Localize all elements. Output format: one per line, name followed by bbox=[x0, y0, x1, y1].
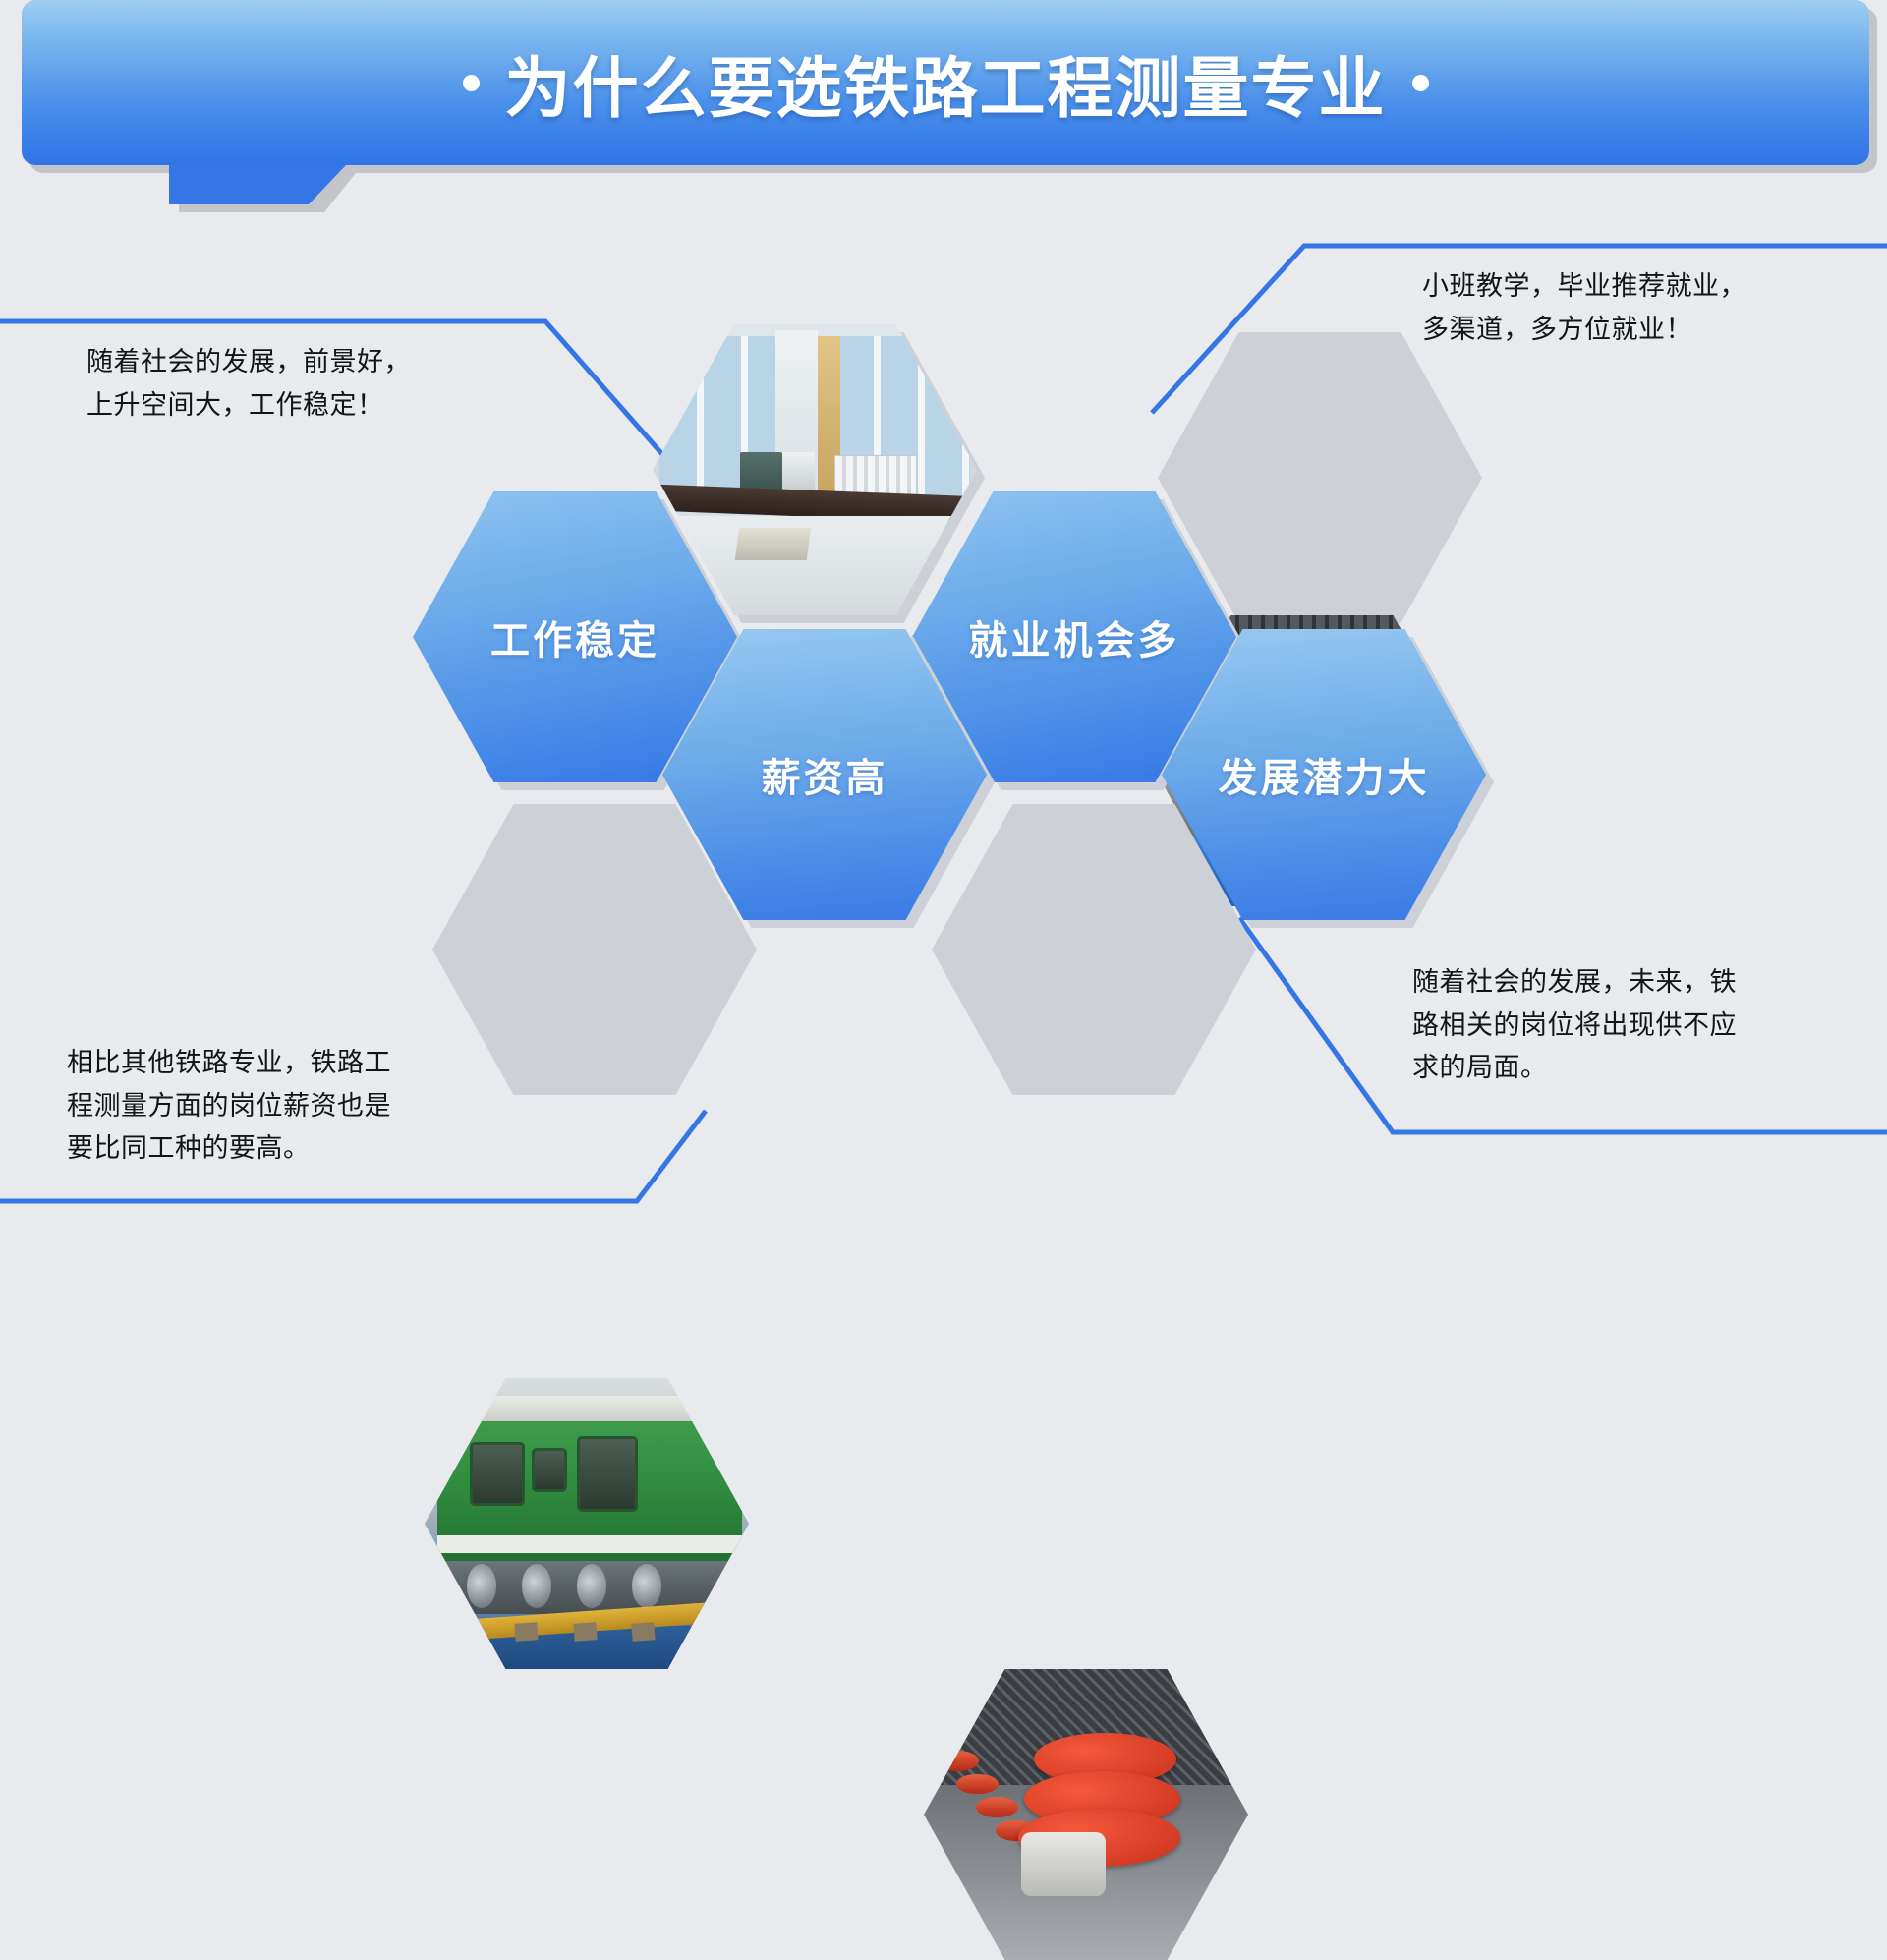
poster-canvas: 为什么要选铁路工程测量专业 bbox=[0, 0, 1887, 1307]
callout-bottom-right: 随着社会的发展，未来，铁 路相关的岗位将出现供不应 求的局面。 bbox=[1412, 961, 1825, 1090]
photo-hex-train bbox=[425, 1378, 749, 1669]
callout-bottom-left: 相比其他铁路专业，铁路工 程测量方面的岗位薪资也是 要比同工种的要高。 bbox=[67, 1042, 489, 1171]
callout-top-right: 小班教学，毕业推荐就业， 多渠道，多方位就业！ bbox=[1422, 265, 1835, 351]
page-title-text: 为什么要选铁路工程测量专业 bbox=[505, 35, 1387, 131]
bullet-right-icon bbox=[1412, 75, 1429, 91]
title-banner: 为什么要选铁路工程测量专业 bbox=[22, 0, 1869, 165]
hex-label-high-salary: 薪资高 bbox=[762, 746, 888, 803]
hex-label-many-jobs: 就业机会多 bbox=[969, 608, 1180, 665]
bullet-left-icon bbox=[463, 75, 480, 91]
banner-tail bbox=[169, 165, 346, 216]
callout-top-left: 随着社会的发展，前景好， 上升空间大，工作稳定！ bbox=[86, 341, 499, 427]
hex-label-growth: 发展潜力大 bbox=[1219, 746, 1430, 803]
hex-label-work-stability: 工作稳定 bbox=[490, 608, 659, 665]
photo-hex-insulator bbox=[924, 1669, 1248, 1960]
page-title: 为什么要选铁路工程测量专业 bbox=[463, 35, 1429, 131]
